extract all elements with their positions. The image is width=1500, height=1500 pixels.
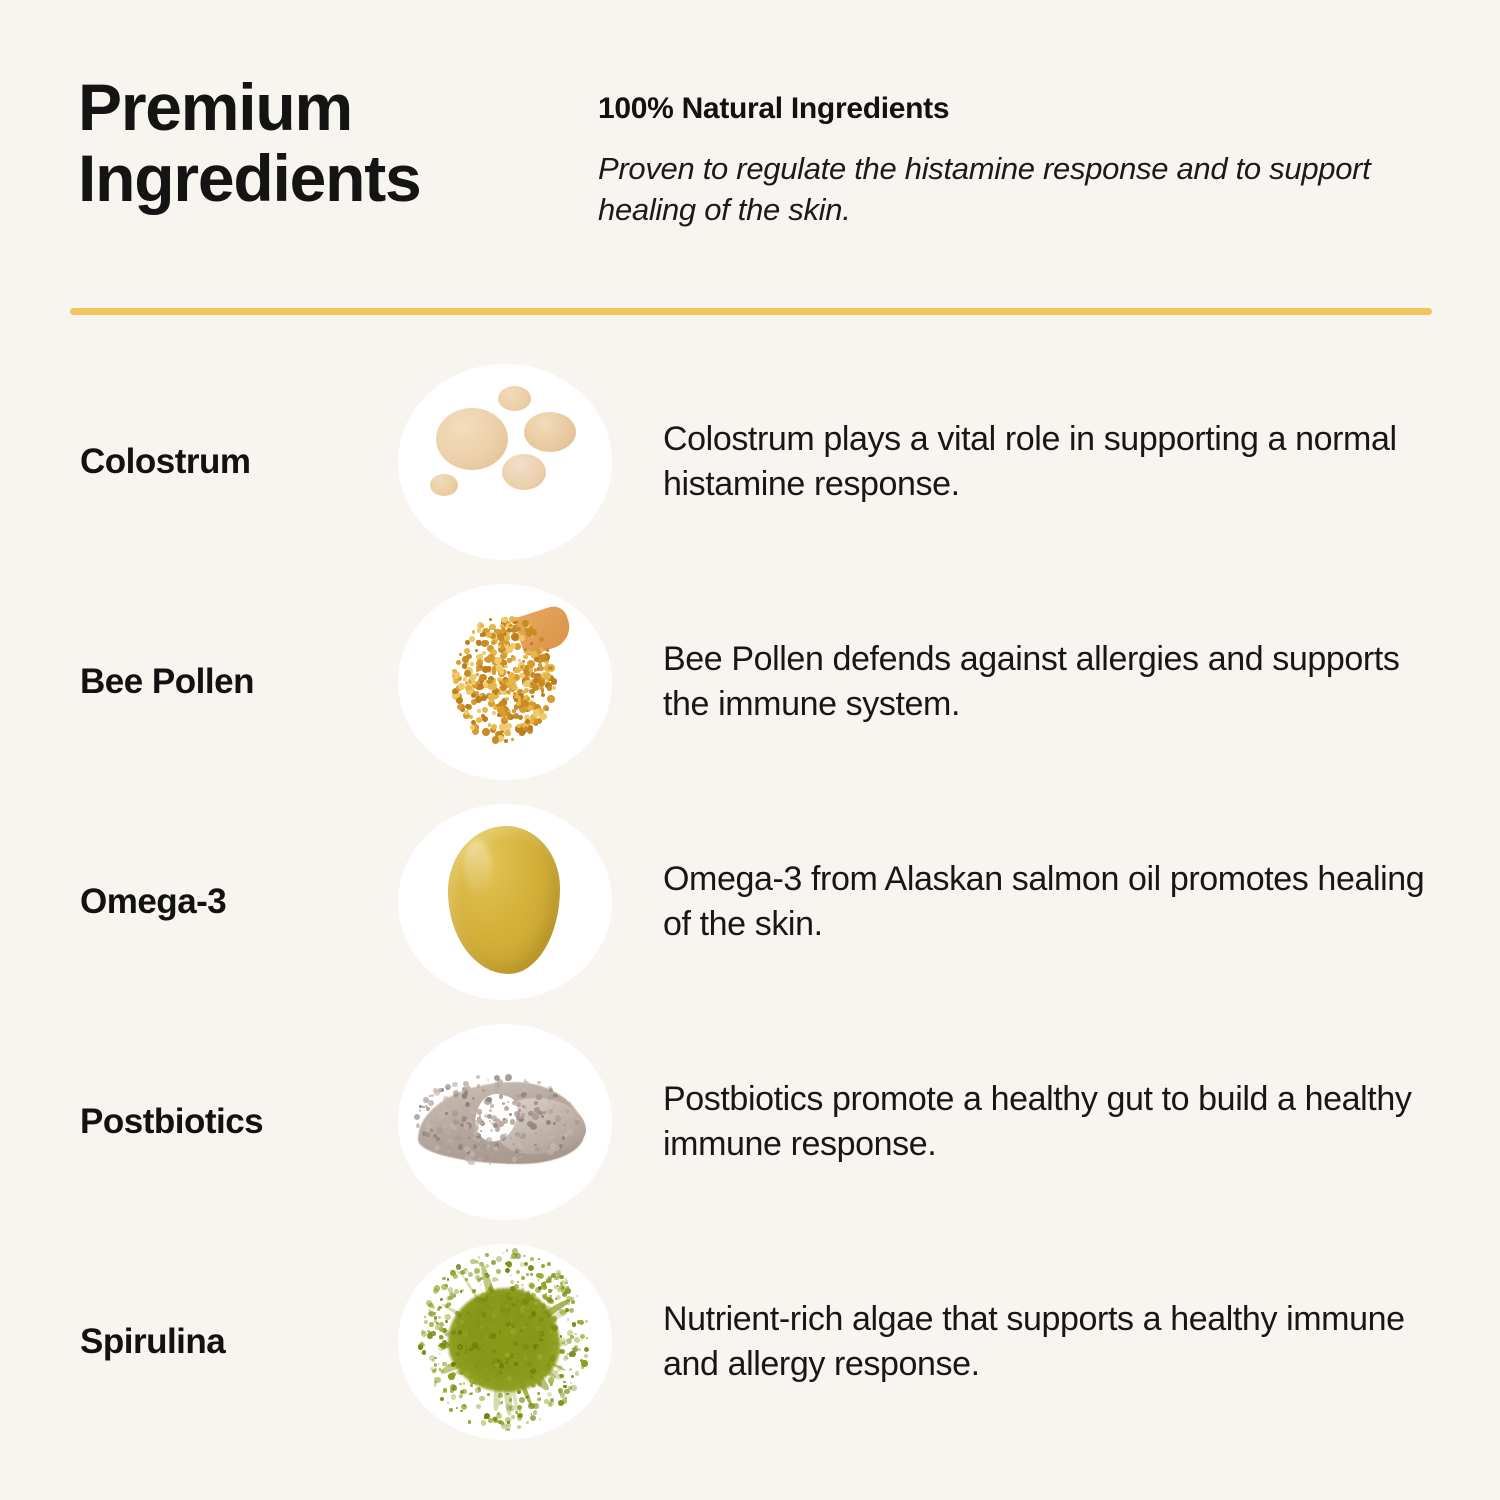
header-kicker: 100% Natural Ingredients (598, 92, 1428, 126)
list-item: Spirulina Nutrient-rich algae that suppo… (0, 1232, 1500, 1452)
header-text-block: 100% Natural Ingredients Proven to regul… (598, 72, 1428, 230)
ingredient-name: Omega-3 (80, 882, 390, 922)
ingredient-description: Bee Pollen defends against allergies and… (663, 637, 1453, 727)
list-item: Bee Pollen Bee Pollen defends against al… (0, 572, 1500, 792)
ingredient-image (398, 804, 612, 1000)
spirulina-powder-splatter-icon (398, 1244, 612, 1440)
ingredient-name: Bee Pollen (80, 662, 390, 702)
ingredients-infographic: Premium Ingredients 100% Natural Ingredi… (0, 0, 1500, 1500)
ingredient-image (398, 364, 612, 560)
header: Premium Ingredients 100% Natural Ingredi… (78, 72, 1428, 230)
ingredient-name: Colostrum (80, 442, 390, 482)
omega-3-oil-droplet-icon (398, 804, 612, 1000)
ingredient-image (398, 584, 612, 780)
ingredient-description: Colostrum plays a vital role in supporti… (663, 417, 1453, 507)
list-item: Omega-3 Omega-3 from Alaskan salmon oil … (0, 792, 1500, 1012)
list-item: Colostrum Colostrum plays a vital role i… (0, 352, 1500, 572)
postbiotics-powder-icon (398, 1024, 612, 1220)
ingredient-list: Colostrum Colostrum plays a vital role i… (0, 352, 1500, 1452)
ingredient-image (398, 1024, 612, 1220)
ingredient-name: Postbiotics (80, 1102, 390, 1142)
list-item: Postbiotics Postbiotics promote a health… (0, 1012, 1500, 1232)
ingredient-name: Spirulina (80, 1322, 390, 1362)
bee-pollen-granules-icon (398, 584, 612, 780)
ingredient-image (398, 1244, 612, 1440)
page-title: Premium Ingredients (78, 72, 598, 213)
ingredient-description: Nutrient-rich algae that supports a heal… (663, 1297, 1453, 1387)
ingredient-description: Postbiotics promote a healthy gut to bui… (663, 1077, 1453, 1167)
colostrum-droplets-icon (398, 364, 612, 560)
ingredient-description: Omega-3 from Alaskan salmon oil promotes… (663, 857, 1453, 947)
header-subtitle: Proven to regulate the histamine respons… (598, 148, 1428, 230)
header-divider (70, 308, 1432, 315)
